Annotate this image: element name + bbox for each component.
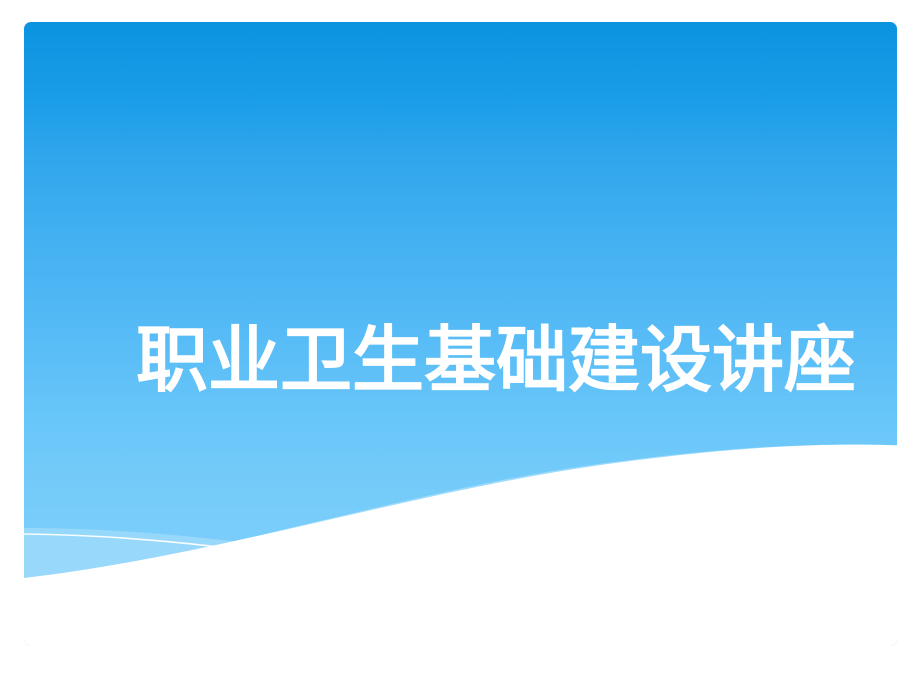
slide-background-panel: 职业卫生基础建设讲座	[24, 22, 897, 646]
slide-canvas: 职业卫生基础建设讲座	[0, 0, 920, 690]
slide-title: 职业卫生基础建设讲座	[136, 314, 856, 406]
